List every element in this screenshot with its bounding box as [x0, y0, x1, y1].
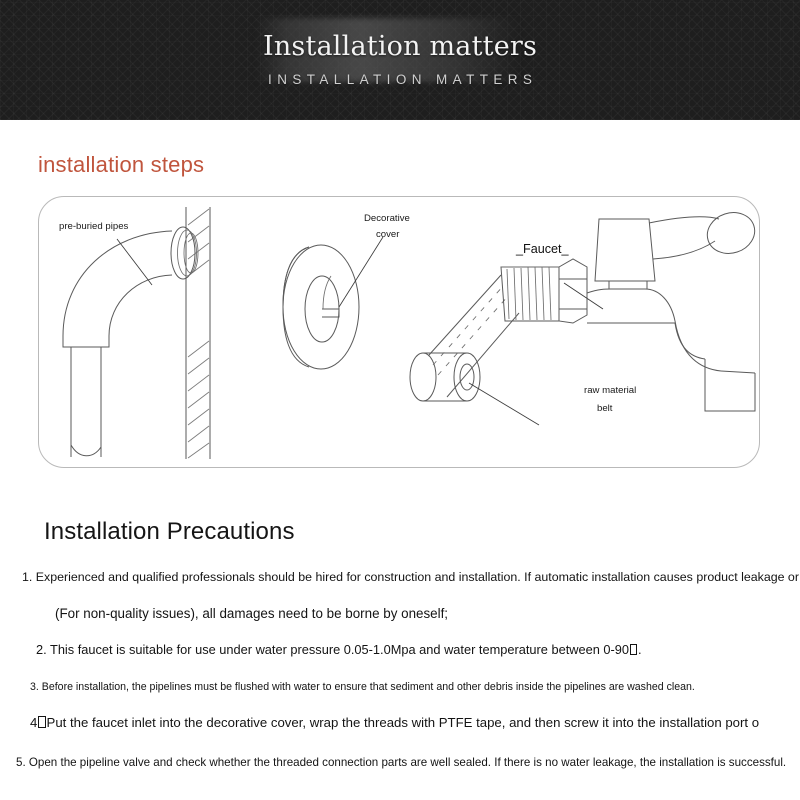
label-decorative-cover-line1: Decorative — [364, 213, 410, 224]
ptfe-tape-illustration: raw material belt — [410, 259, 636, 425]
precaution-item-1: 1. Experienced and qualified professiona… — [22, 570, 800, 585]
installation-steps-diagram: pre-buried pipes Decorative cover — [38, 196, 760, 468]
label-raw-material-line1: raw material — [584, 385, 636, 396]
label-faucet: _Faucet_ — [515, 242, 570, 256]
precaution-item-4-text: Put the faucet inlet into the decorative… — [47, 715, 760, 730]
decorative-cover-illustration: Decorative cover — [283, 213, 410, 369]
missing-glyph-period-marker — [38, 716, 46, 728]
precaution-item-2: 2. This faucet is suitable for use under… — [36, 642, 642, 657]
label-decorative-cover-line2: cover — [376, 229, 400, 240]
banner-content: Installation matters INSTALLATION MATTER… — [0, 0, 800, 120]
precaution-item-4-prefix: 4 — [30, 715, 37, 730]
precaution-item-4: 4Put the faucet inlet into the decorativ… — [30, 715, 759, 731]
label-pre-buried-pipes: pre-buried pipes — [59, 221, 129, 232]
banner-subtitle: INSTALLATION MATTERS — [263, 73, 538, 87]
faucet-illustration: _Faucet_ — [515, 207, 760, 411]
precautions-title: Installation Precautions — [44, 518, 295, 546]
missing-glyph-degree-celsius — [630, 644, 638, 656]
precaution-item-2-suffix: . — [638, 642, 642, 657]
precaution-item-3: 3. Before installation, the pipelines mu… — [30, 681, 695, 694]
header-banner: Installation matters INSTALLATION MATTER… — [0, 0, 800, 120]
precaution-item-5: 5. Open the pipeline valve and check whe… — [16, 756, 786, 770]
section-heading-installation-steps: installation steps — [38, 152, 204, 178]
banner-title: Installation matters — [263, 33, 537, 60]
installation-guide-page: Installation matters INSTALLATION MATTER… — [0, 0, 800, 800]
label-raw-material-line2: belt — [597, 403, 613, 414]
precaution-item-1-continued: (For non-quality issues), all damages ne… — [55, 606, 448, 622]
pre-buried-pipe-illustration: pre-buried pipes — [59, 207, 210, 459]
precaution-item-2-text: 2. This faucet is suitable for use under… — [36, 642, 629, 657]
diagram-svg: pre-buried pipes Decorative cover — [39, 197, 760, 468]
